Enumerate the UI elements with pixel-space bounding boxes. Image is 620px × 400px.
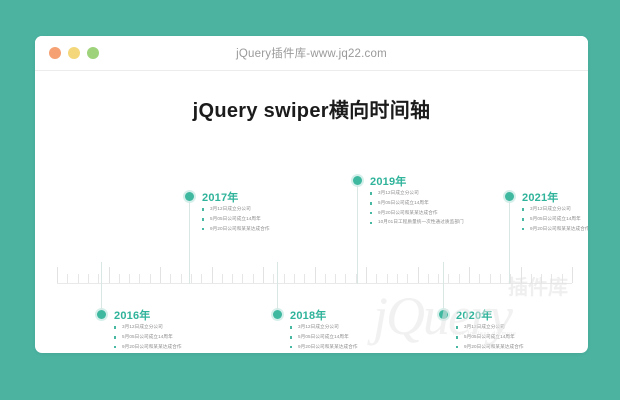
event-list-item: 9月20日公司和某某达成合作 [370, 210, 478, 217]
timeline-connector-line [101, 262, 102, 310]
event-item-list: 3月12日成立分公司5月05日公司成立14周年9月20日公司和某某达成合作 [114, 324, 222, 353]
browser-card: jQuery插件库-www.jq22.com jQuery swiper横向时间… [35, 36, 588, 353]
event-list-item: 9月20日公司和某某达成合作 [456, 344, 564, 351]
ruler-tick-minor [500, 274, 501, 283]
ruler-tick-minor [438, 274, 439, 283]
timeline-ruler [57, 262, 572, 284]
timeline-marker-dot-icon[interactable] [439, 310, 448, 319]
event-list-item: 9月20日公司和某某达成合作 [114, 344, 222, 351]
ruler-tick-minor [119, 274, 120, 283]
ruler-tick-minor [181, 274, 182, 283]
event-list-item: 9月20日公司和某某达成合作 [290, 344, 398, 351]
ruler-tick-major [315, 267, 316, 283]
page-title: jQuery swiper横向时间轴 [35, 70, 588, 123]
ruler-tick-minor [273, 274, 274, 283]
ruler-tick-minor [304, 274, 305, 283]
ruler-tick-minor [88, 274, 89, 283]
ruler-tick-minor [294, 274, 295, 283]
event-list-item: 5月05日公司成立14周年 [456, 334, 564, 341]
timeline-connector-line [189, 201, 190, 284]
screenshot-root: jQuery插件库-www.jq22.com jQuery swiper横向时间… [0, 0, 620, 400]
ruler-tick-minor [490, 274, 491, 283]
ruler-tick-minor [387, 274, 388, 283]
ruler-tick-minor [407, 274, 408, 283]
ruler-tick-major [366, 267, 367, 283]
browser-title: jQuery插件库-www.jq22.com [35, 45, 588, 61]
timeline-marker-dot-icon[interactable] [353, 176, 362, 185]
event-list-item: 3月12日成立分公司 [290, 324, 398, 331]
ruler-tick-minor [253, 274, 254, 283]
ruler-tick-minor [78, 274, 79, 283]
event-list-item: 3月12日成立分公司 [456, 324, 564, 331]
ruler-tick-minor [191, 274, 192, 283]
ruler-tick-minor [170, 274, 171, 283]
timeline-connector-line [357, 185, 358, 284]
ruler-baseline [57, 283, 572, 284]
event-list-item: 10月01日工程质量统一次性通过质监部门 [370, 219, 478, 226]
event-item-list: 3月12日成立分公司5月05日公司成立14周年9月20日公司和某某达成合作 [456, 324, 564, 353]
ruler-tick-minor [150, 274, 151, 283]
event-item-list: 3月12日成立分公司5月05日公司成立14周年9月20日公司和某某达成合作 [290, 324, 398, 353]
event-year-label: 2020年 [456, 307, 492, 323]
ruler-tick-minor [325, 274, 326, 283]
ruler-tick-minor [335, 274, 336, 283]
ruler-tick-minor [232, 274, 233, 283]
ruler-tick-minor [551, 274, 552, 283]
timeline-connector-line [509, 201, 510, 284]
ruler-tick-major [109, 267, 110, 283]
ruler-tick-minor [345, 274, 346, 283]
event-list-item: 9月20日公司和某某达成合作 [522, 226, 588, 233]
ruler-tick-minor [479, 274, 480, 283]
ruler-tick-major [469, 267, 470, 283]
timeline-connector-line [443, 262, 444, 310]
ruler-tick-major [57, 267, 58, 283]
event-list-item: 5月05日公司成立14周年 [522, 216, 588, 223]
ruler-tick-minor [98, 274, 99, 283]
event-list-item: 5月05日公司成立14周年 [370, 200, 478, 207]
ruler-tick-major [418, 267, 419, 283]
event-list-item: 5月05日公司成立14周年 [202, 216, 310, 223]
ruler-tick-minor [562, 274, 563, 283]
ruler-tick-minor [448, 274, 449, 283]
timeline-marker-dot-icon[interactable] [97, 310, 106, 319]
timeline-section: jQuery swiper横向时间轴 2016年3月12日成立分公司5月05日公… [35, 70, 588, 353]
ruler-tick-minor [242, 274, 243, 283]
event-list-item: 5月05日公司成立14周年 [290, 334, 398, 341]
event-list-item: 3月12日成立分公司 [370, 190, 478, 197]
timeline-marker-dot-icon[interactable] [505, 192, 514, 201]
event-list-item: 3月12日成立分公司 [114, 324, 222, 331]
ruler-tick-major [160, 267, 161, 283]
ruler-tick-minor [129, 274, 130, 283]
timeline-connector-line [277, 262, 278, 310]
ruler-tick-minor [139, 274, 140, 283]
event-year-label: 2018年 [290, 307, 326, 323]
event-year-label: 2021年 [522, 189, 558, 205]
ruler-tick-minor [541, 274, 542, 283]
event-year-label: 2017年 [202, 189, 238, 205]
ruler-tick-major [521, 267, 522, 283]
ruler-tick-minor [222, 274, 223, 283]
ruler-tick-minor [284, 274, 285, 283]
event-item-list: 3月12日成立分公司5月05日公司成立14周年9月20日公司和某某达成合作10月… [370, 190, 478, 229]
event-year-label: 2016年 [114, 307, 150, 323]
event-list-item: 3月12日成立分公司 [522, 206, 588, 213]
event-list-item: 3月12日成立分公司 [202, 206, 310, 213]
ruler-tick-minor [397, 274, 398, 283]
ruler-tick-major [212, 267, 213, 283]
event-item-list: 3月12日成立分公司5月05日公司成立14周年9月20日公司和某某达成合作 [522, 206, 588, 235]
event-list-item: 5月05日公司成立14周年 [114, 334, 222, 341]
event-year-label: 2019年 [370, 173, 406, 189]
event-item-list: 3月12日成立分公司5月05日公司成立14周年9月20日公司和某某达成合作 [202, 206, 310, 235]
ruler-tick-minor [510, 274, 511, 283]
ruler-tick-minor [67, 274, 68, 283]
ruler-tick-minor [428, 274, 429, 283]
browser-titlebar: jQuery插件库-www.jq22.com [35, 36, 588, 71]
timeline-marker-dot-icon[interactable] [185, 192, 194, 201]
ruler-tick-major [263, 267, 264, 283]
ruler-tick-minor [459, 274, 460, 283]
event-list-item: 9月20日公司和某某达成合作 [202, 226, 310, 233]
timeline-marker-dot-icon[interactable] [273, 310, 282, 319]
ruler-tick-major [572, 267, 573, 283]
ruler-tick-minor [531, 274, 532, 283]
ruler-tick-minor [201, 274, 202, 283]
ruler-tick-minor [376, 274, 377, 283]
